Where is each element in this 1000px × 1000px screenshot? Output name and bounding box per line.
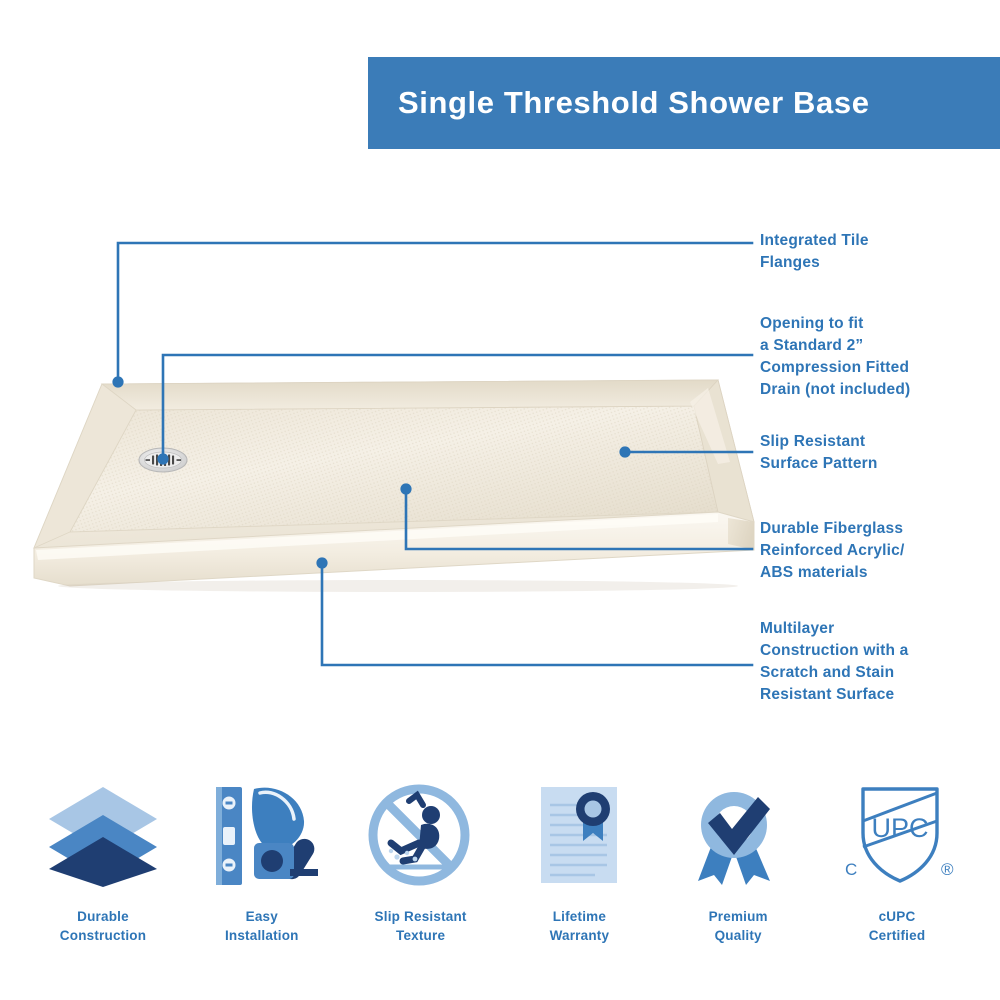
infographic-canvas: Single Threshold Shower Base <box>0 0 1000 1000</box>
certificate-ribbon-icon <box>519 778 639 896</box>
feature-premium-quality: Premium Quality <box>663 778 813 945</box>
no-slip-icon <box>361 778 481 896</box>
feature-label: Premium Quality <box>709 908 768 945</box>
title-banner: Single Threshold Shower Base <box>368 57 1000 149</box>
drain-cover <box>139 448 187 472</box>
feature-label: Durable Construction <box>60 908 146 945</box>
product-illustration <box>18 372 758 592</box>
shield-left-mark: C <box>845 860 857 879</box>
callout-label-slip-resistant-surface: Slip Resistant Surface Pattern <box>760 431 878 475</box>
feature-cupc-certified: UPC C ® cUPC Certified <box>822 778 972 945</box>
base-back-ledge <box>102 380 718 410</box>
callout-label-durable-materials: Durable Fiberglass Reinforced Acrylic/ A… <box>760 518 905 584</box>
shield-center-text: UPC <box>871 813 928 843</box>
shield-right-mark: ® <box>941 860 954 879</box>
callout-label-drain-opening: Opening to fit a Standard 2” Compression… <box>760 313 910 401</box>
feature-label: cUPC Certified <box>869 908 926 945</box>
feature-slip-resistant-texture: Slip Resistant Texture <box>346 778 496 945</box>
feature-label: Slip Resistant Texture <box>375 908 467 945</box>
feature-easy-installation: Easy Installation <box>187 778 337 945</box>
feature-icons-row: Durable Construction <box>0 778 1000 978</box>
leader-integrated-tile-flanges <box>118 243 752 382</box>
award-check-icon <box>678 778 798 896</box>
callout-label-integrated-tile-flanges: Integrated Tile Flanges <box>760 230 869 274</box>
page-title: Single Threshold Shower Base <box>368 85 870 121</box>
level-and-trowel-icon <box>202 778 322 896</box>
upc-shield-icon: UPC C ® <box>837 778 957 896</box>
callout-label-multilayer-construction: Multilayer Construction with a Scratch a… <box>760 618 908 706</box>
feature-durable-construction: Durable Construction <box>28 778 178 945</box>
stacked-layers-icon <box>43 778 163 896</box>
base-shadow <box>58 580 738 592</box>
feature-label: Lifetime Warranty <box>550 908 610 945</box>
feature-label: Easy Installation <box>225 908 299 945</box>
feature-lifetime-warranty: Lifetime Warranty <box>504 778 654 945</box>
